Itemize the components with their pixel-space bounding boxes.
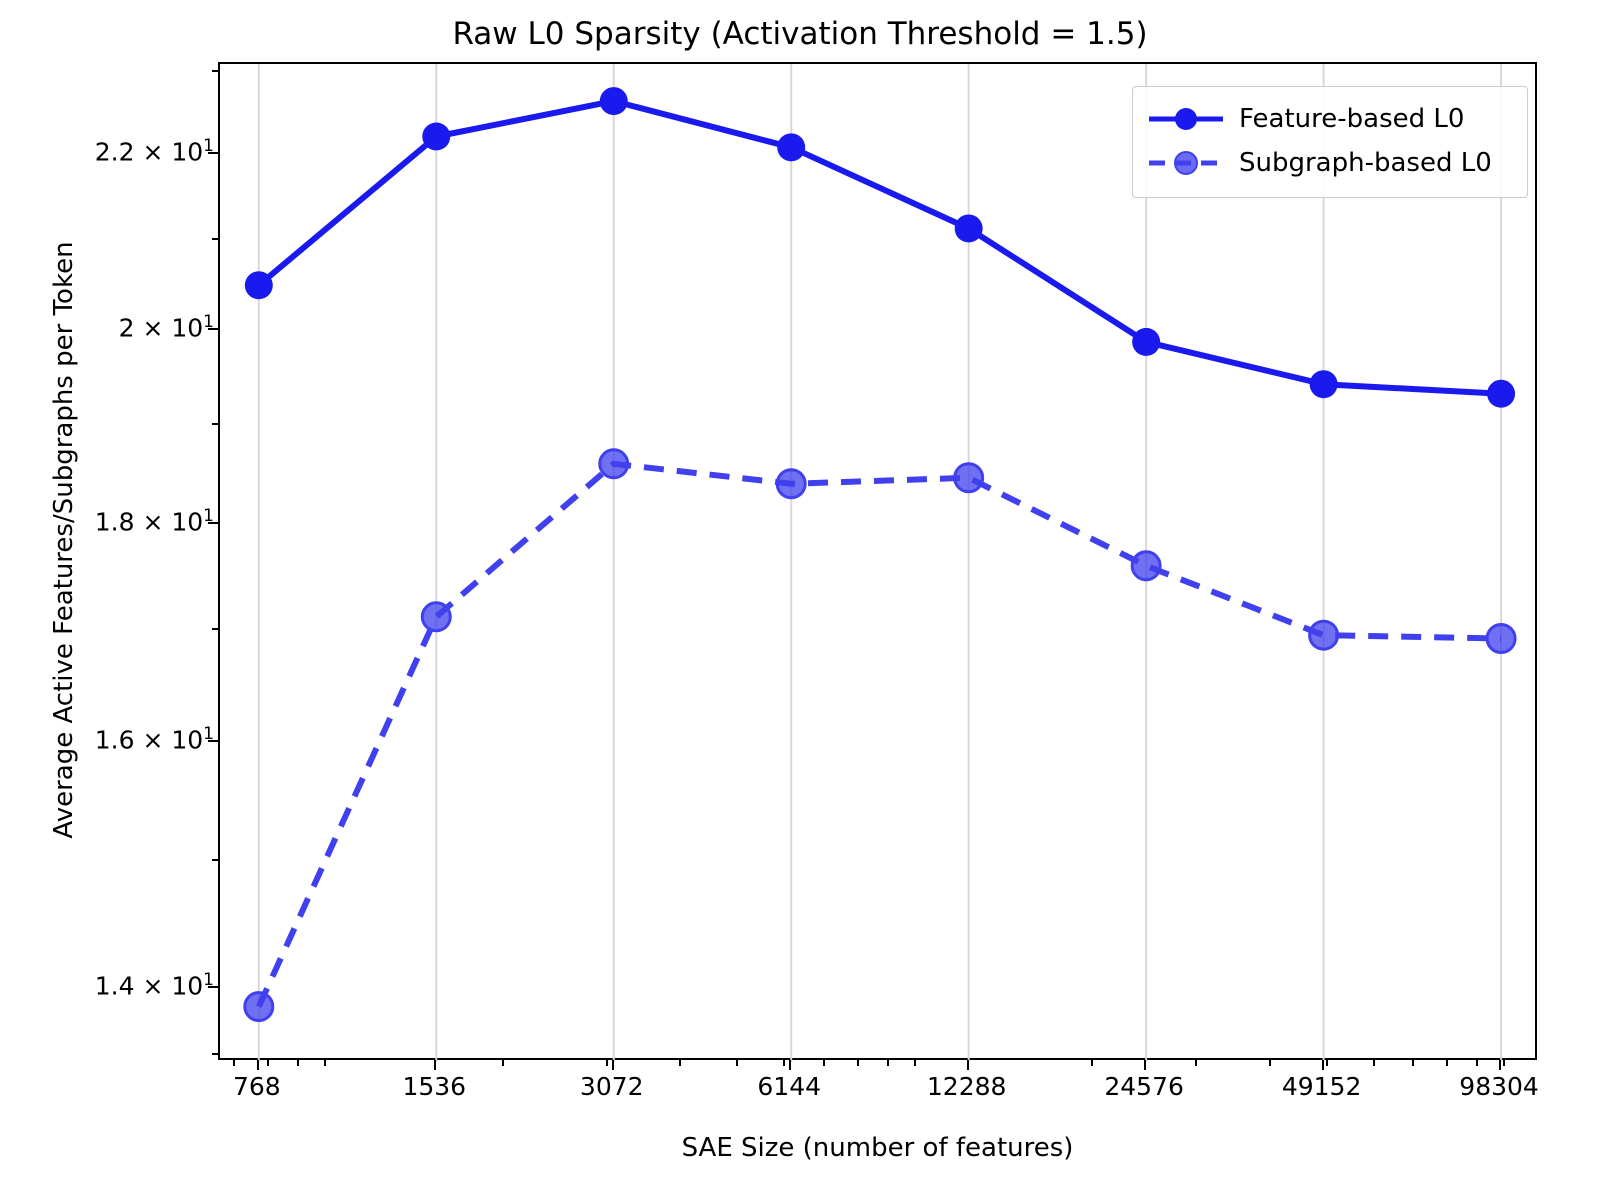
x-axis-tick-label: 12288: [927, 1072, 1007, 1101]
x-axis-minor-tick-mark: [502, 1060, 504, 1066]
x-axis-minor-tick-mark: [267, 1060, 269, 1066]
y-axis-tick-mark: [208, 986, 218, 988]
y-axis-minor-tick-mark: [212, 859, 218, 861]
y-axis-minor-tick-mark: [212, 238, 218, 240]
data-point-marker[interactable]: [777, 133, 805, 161]
data-point-marker[interactable]: [600, 450, 628, 478]
y-axis-tick-label: 2 × 101: [119, 313, 214, 342]
x-axis-tick-mark: [257, 1060, 259, 1070]
x-axis-minor-tick-mark: [1326, 1060, 1328, 1066]
x-axis-tick-mark: [1499, 1060, 1501, 1070]
x-axis-minor-tick-mark: [606, 1060, 608, 1066]
x-axis-tick-label: 3072: [580, 1072, 644, 1101]
y-axis-tick-mark: [208, 522, 218, 524]
x-axis-minor-tick-mark: [1412, 1060, 1414, 1066]
data-point-marker[interactable]: [1310, 370, 1338, 398]
x-axis-tick-label: 6144: [757, 1072, 821, 1101]
x-axis-minor-tick-mark: [914, 1060, 916, 1066]
data-point-marker[interactable]: [1132, 328, 1160, 356]
x-axis-minor-tick-mark: [1446, 1060, 1448, 1066]
x-axis-minor-tick-mark: [679, 1060, 681, 1066]
x-axis-minor-tick-mark: [736, 1060, 738, 1066]
data-point-marker[interactable]: [422, 123, 450, 151]
y-axis-minor-tick-mark: [212, 1053, 218, 1055]
x-axis-minor-tick-mark: [823, 1060, 825, 1066]
x-axis-tick-label: 768: [233, 1072, 281, 1101]
legend-item-feature-based-l0: Feature-based L0: [1147, 97, 1513, 141]
y-axis-tick-mark: [208, 328, 218, 330]
y-axis-tick-label: 1.4 × 101: [95, 972, 214, 1001]
data-point-marker[interactable]: [600, 87, 628, 115]
x-axis-tick-label: 98304: [1459, 1072, 1539, 1101]
series-line: [259, 464, 1501, 1007]
x-axis-minor-tick-mark: [1476, 1060, 1478, 1066]
x-axis-minor-tick-mark: [233, 1060, 235, 1066]
x-axis-tick-label: 49152: [1282, 1072, 1362, 1101]
legend-label-feature-based-l0: Feature-based L0: [1225, 104, 1464, 134]
x-axis-minor-tick-mark: [1195, 1060, 1197, 1066]
chart-title: Raw L0 Sparsity (Activation Threshold = …: [0, 16, 1600, 52]
legend-swatch-dashed-line: [1147, 148, 1225, 178]
x-axis-tick-label: 1536: [402, 1072, 466, 1101]
data-point-marker[interactable]: [777, 470, 805, 498]
x-axis-minor-tick-mark: [887, 1060, 889, 1066]
gridlines: [259, 64, 1501, 1062]
plot-area: [218, 62, 1537, 1060]
x-axis-minor-tick-mark: [1091, 1060, 1093, 1066]
x-axis-tick-mark: [789, 1060, 791, 1070]
x-axis-tick-mark: [967, 1060, 969, 1070]
y-axis-tick-label: 1.8 × 101: [95, 508, 214, 537]
y-axis-tick-label: 2.2 × 101: [95, 138, 214, 167]
y-axis-tick-mark: [208, 152, 218, 154]
x-axis-tick-mark: [612, 1060, 614, 1070]
data-point-marker[interactable]: [422, 603, 450, 631]
data-point-marker[interactable]: [955, 464, 983, 492]
legend-label-subgraph-based-l0: Subgraph-based L0: [1225, 148, 1492, 178]
legend-item-subgraph-based-l0: Subgraph-based L0: [1147, 141, 1513, 185]
x-axis-minor-tick-mark: [324, 1060, 326, 1066]
data-point-marker[interactable]: [955, 214, 983, 242]
y-axis-minor-tick-mark: [212, 70, 218, 72]
chart-figure: Raw L0 Sparsity (Activation Threshold = …: [0, 0, 1600, 1197]
x-axis-tick-mark: [434, 1060, 436, 1070]
chart-legend: Feature-based L0 Subgraph-based L0: [1132, 86, 1528, 198]
x-axis-minor-tick-mark: [1373, 1060, 1375, 1066]
y-axis-minor-tick-mark: [212, 423, 218, 425]
x-axis-minor-tick-mark: [297, 1060, 299, 1066]
data-point-marker[interactable]: [245, 993, 273, 1021]
x-axis-minor-tick-mark: [783, 1060, 785, 1066]
x-axis-tick-mark: [1144, 1060, 1146, 1070]
data-point-marker[interactable]: [1310, 621, 1338, 649]
y-axis-label: Average Active Features/Subgraphs per To…: [49, 140, 79, 940]
x-axis-label: SAE Size (number of features): [218, 1133, 1537, 1163]
y-axis-tick-label: 1.6 × 101: [95, 725, 214, 754]
y-axis-tick-mark: [208, 740, 218, 742]
data-point-marker[interactable]: [1487, 624, 1515, 652]
x-axis-minor-tick-mark: [857, 1060, 859, 1066]
legend-swatch-solid-line: [1147, 104, 1225, 134]
y-axis-minor-tick-mark: [212, 628, 218, 630]
plot-canvas: [220, 64, 1539, 1062]
x-axis-tick-mark: [1322, 1060, 1324, 1070]
data-point-marker[interactable]: [1487, 380, 1515, 408]
x-axis-minor-tick-mark: [1503, 1060, 1505, 1066]
data-point-marker[interactable]: [245, 271, 273, 299]
x-axis-tick-label: 24576: [1104, 1072, 1184, 1101]
data-point-marker[interactable]: [1132, 552, 1160, 580]
x-axis-minor-tick-mark: [1269, 1060, 1271, 1066]
